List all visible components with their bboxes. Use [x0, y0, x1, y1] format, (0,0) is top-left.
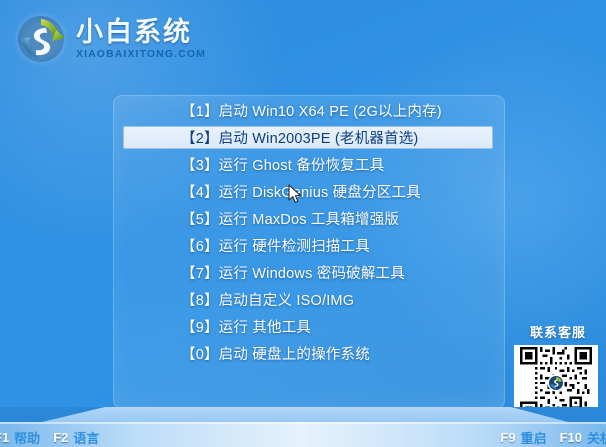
boot-menu-item-6[interactable]: 【6】运行 硬件检测扫描工具	[123, 234, 493, 257]
brand-title: 小白系统	[76, 18, 206, 46]
status-label-f9: 重启	[521, 428, 547, 447]
boot-menu-item-9[interactable]: 【9】运行 其他工具	[123, 315, 493, 338]
recycle-arrows-logo-icon	[12, 10, 70, 68]
status-label-f2: 语言	[73, 428, 99, 447]
status-label-f1: 帮助	[14, 428, 40, 447]
boot-menu-item-10[interactable]: 【0】启动 硬盘上的操作系统	[123, 342, 493, 365]
boot-menu-item-2[interactable]: 【2】启动 Win2003PE (老机器首选)	[123, 126, 493, 149]
status-label-f10: 关机	[587, 428, 606, 447]
status-bar: F1帮助F2语言 F9重启F10关机	[0, 428, 606, 447]
brand-subtitle: XIAOBAIXITONG.COM	[76, 48, 206, 60]
boot-menu-item-7[interactable]: 【7】运行 Windows 密码破解工具	[123, 261, 493, 284]
status-bar-left: F1帮助F2语言	[0, 428, 99, 447]
boot-menu-list: 【1】启动 Win10 X64 PE (2G以上内存)【2】启动 Win2003…	[113, 96, 503, 369]
brand-logo: 小白系统 XIAOBAIXITONG.COM	[12, 8, 222, 70]
boot-menu-item-1[interactable]: 【1】启动 Win10 X64 PE (2G以上内存)	[123, 99, 493, 122]
status-key-f9: F9	[500, 430, 515, 445]
boot-menu-item-4[interactable]: 【4】运行 DiskGenius 硬盘分区工具	[123, 180, 493, 203]
boot-menu-item-5[interactable]: 【5】运行 MaxDos 工具箱增强版	[123, 207, 493, 230]
boot-menu-screen: 小白系统 XIAOBAIXITONG.COM 【1】启动 Win10 X64 P…	[0, 0, 606, 447]
status-key-f1: F1	[0, 430, 9, 445]
contact-support-label: 联系客服	[514, 322, 602, 341]
boot-menu-item-3[interactable]: 【3】运行 Ghost 备份恢复工具	[123, 153, 493, 176]
boot-menu-item-8[interactable]: 【8】启动自定义 ISO/IMG	[123, 288, 493, 311]
status-key-f10: F10	[560, 430, 582, 445]
brand-mark-icon	[548, 375, 565, 392]
status-bar-right: F9重启F10关机	[500, 428, 606, 447]
status-key-f2: F2	[53, 430, 68, 445]
brand-text: 小白系统 XIAOBAIXITONG.COM	[76, 18, 206, 60]
